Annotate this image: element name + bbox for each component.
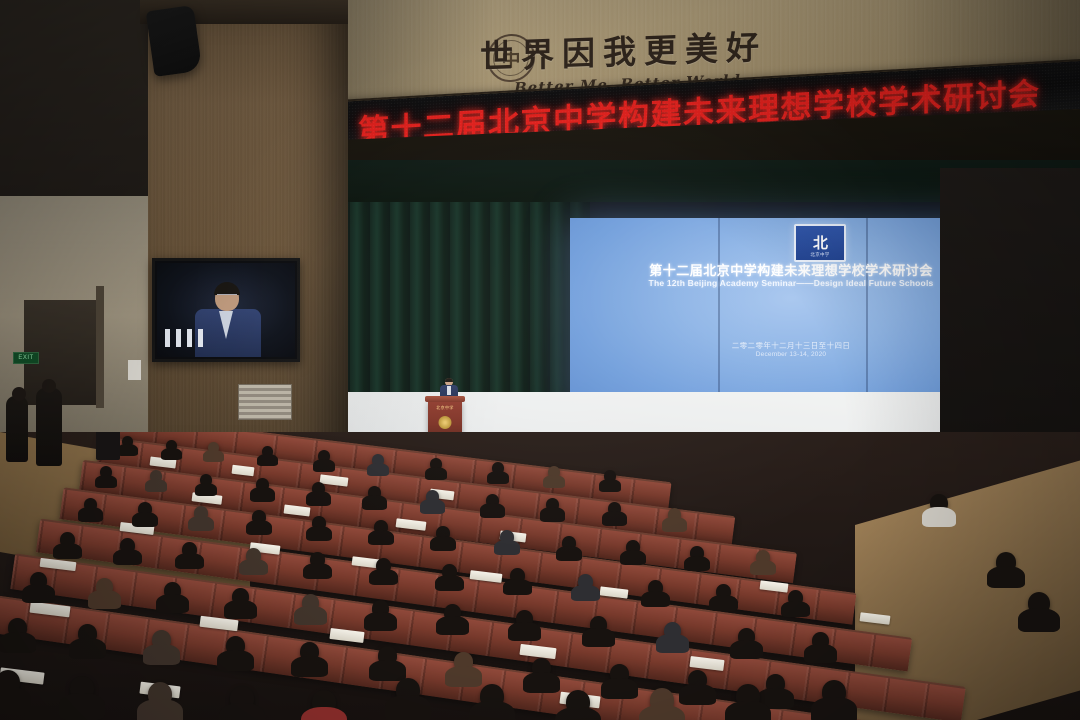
attendee xyxy=(138,502,152,516)
attendee xyxy=(150,470,162,482)
attendee xyxy=(78,624,97,643)
attendee xyxy=(566,690,590,714)
attendee xyxy=(590,616,607,633)
attendee xyxy=(208,442,219,453)
wall-speaker-array xyxy=(146,5,203,77)
attendee xyxy=(230,686,254,710)
attendee xyxy=(766,674,785,693)
right-side-wall xyxy=(940,168,1080,468)
attendee xyxy=(96,578,113,595)
podium-text: 北京中学 xyxy=(428,405,462,411)
attendee xyxy=(486,494,499,507)
attendee xyxy=(500,530,514,544)
attendee xyxy=(262,446,273,457)
attendee xyxy=(310,552,325,567)
attendee xyxy=(8,618,27,637)
attendee xyxy=(0,670,20,694)
attendee xyxy=(610,664,629,683)
attendee xyxy=(246,548,261,563)
attendee xyxy=(444,604,461,621)
attendee xyxy=(480,684,504,708)
attendee xyxy=(996,552,1016,572)
side-wall-monitor xyxy=(152,258,300,362)
person-head xyxy=(42,379,56,393)
attendee xyxy=(166,440,177,451)
attendee xyxy=(378,646,397,665)
attendee xyxy=(70,676,94,700)
podium-crest-icon xyxy=(439,416,452,429)
screen-logo-left: 北 北京中学 xyxy=(794,224,846,262)
speaker-hair xyxy=(445,378,453,382)
attendee xyxy=(648,580,663,595)
side-monitor-feed xyxy=(157,263,295,357)
attendee xyxy=(312,482,325,495)
attendee xyxy=(368,486,381,499)
feed-speaker-glasses-icon xyxy=(217,294,237,300)
attendee xyxy=(30,572,47,589)
wall-plate xyxy=(128,360,141,380)
attendee xyxy=(302,594,319,611)
attendee xyxy=(736,684,760,708)
attendee-white-jacket xyxy=(930,494,948,512)
attendee xyxy=(690,546,704,560)
attendee xyxy=(194,506,208,520)
attendee xyxy=(100,466,112,478)
attendee xyxy=(372,454,384,466)
seal-glyph: 中 xyxy=(501,44,520,72)
attendee xyxy=(200,474,212,486)
podium-top xyxy=(425,396,465,402)
auditorium-photo: 中 世界因我更美好 Better Me, Better World. 第十二届北… xyxy=(0,0,1080,720)
person-standing-left-2 xyxy=(6,396,28,462)
attendee xyxy=(716,584,731,599)
attendee xyxy=(492,462,504,474)
attendee xyxy=(738,628,755,645)
attendee xyxy=(312,516,326,530)
attendee xyxy=(430,458,442,470)
attendee xyxy=(84,498,97,511)
photographer-standing xyxy=(96,432,120,460)
attendee xyxy=(548,466,560,478)
attendee xyxy=(318,450,330,462)
feed-mic-stripes xyxy=(165,329,207,347)
attendee xyxy=(372,600,389,617)
attendee xyxy=(546,498,559,511)
attendee xyxy=(312,690,336,714)
attendee xyxy=(426,490,439,503)
attendee xyxy=(516,610,533,627)
attendee xyxy=(578,574,593,589)
left-door-frame xyxy=(96,286,104,408)
screen-logo-left-mark: 北 xyxy=(813,236,827,251)
person-standing-left xyxy=(36,388,62,466)
attendee xyxy=(376,558,391,573)
attendee xyxy=(812,632,829,649)
attendee xyxy=(256,478,269,491)
person-head xyxy=(12,387,26,401)
attendee xyxy=(300,642,319,661)
auditorium-seating xyxy=(0,432,1080,720)
attendee xyxy=(608,502,621,515)
attendee xyxy=(510,568,525,583)
attendee xyxy=(604,470,616,482)
attendee xyxy=(1028,592,1050,614)
attendee xyxy=(454,652,473,671)
attendee xyxy=(668,508,681,521)
attendee xyxy=(152,630,171,649)
attendee xyxy=(232,588,249,605)
attendee xyxy=(626,540,640,554)
attendee xyxy=(60,532,75,547)
attendee xyxy=(226,636,245,655)
attendee xyxy=(442,564,457,579)
attendee xyxy=(120,538,135,553)
exit-sign-text: EXIT xyxy=(18,355,33,361)
attendee xyxy=(436,526,450,540)
attendee xyxy=(650,688,674,712)
attendee xyxy=(182,542,197,557)
attendee xyxy=(688,670,707,689)
attendee xyxy=(756,550,770,564)
attendee xyxy=(252,510,266,524)
attendee xyxy=(164,582,181,599)
attendee xyxy=(148,682,172,706)
wall-air-vent xyxy=(238,384,292,420)
attendee xyxy=(396,678,420,702)
speaker-shirt xyxy=(447,386,451,395)
attendee xyxy=(788,590,803,605)
attendee xyxy=(562,536,576,550)
attendee xyxy=(664,622,681,639)
attendee xyxy=(822,680,846,704)
exit-sign: EXIT xyxy=(13,352,39,364)
attendee xyxy=(532,658,551,677)
screen-logo-left-caption: 北京中学 xyxy=(796,252,844,258)
attendee xyxy=(122,436,133,447)
attendee xyxy=(374,520,388,534)
